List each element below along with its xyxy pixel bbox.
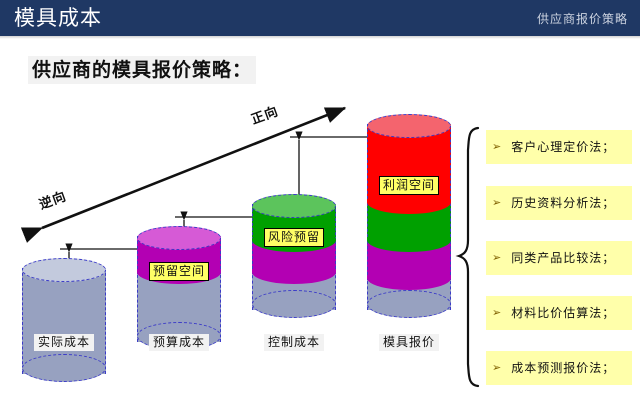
cylinder-bottom-ellipse [252,290,336,318]
cylinder-base-label: 预算成本 [149,334,209,351]
segment-label-risk-reserve: 风险预留 [264,228,324,247]
method-item-2[interactable]: ➢ 历史资料分析法； [486,186,632,220]
method-item-label: 客户心理定价法； [511,139,615,155]
segment-reserved-space-bottom-ellipse [252,260,336,284]
bullet-arrow-icon: ➢ [492,360,502,376]
slide-canvas: 模具成本 供应商报价策略 供应商的模具报价策略： [0,0,640,401]
bullet-arrow-icon: ➢ [492,305,502,321]
bullet-arrow-icon: ➢ [492,139,502,155]
bullet-arrow-icon: ➢ [492,250,502,266]
cylinder-bottom-ellipse [22,354,106,382]
cylinder-actual-cost[interactable]: 实际成本 [22,258,106,384]
bullet-arrow-icon: ➢ [492,195,502,211]
cylinder-control-cost[interactable]: 风险预留 控制成本 [252,194,336,384]
segment-label-reserved-space: 预留空间 [149,262,209,281]
cylinder-top-ellipse [367,114,451,138]
method-item-5[interactable]: ➢ 成本预测报价法； [486,351,632,385]
cylinder-mold-quotation[interactable]: 利润空间 模具报价 [367,114,451,384]
cylinder-base-label: 实际成本 [34,334,94,351]
method-item-label: 同类产品比较法； [511,250,615,266]
methods-brace [459,128,478,386]
cylinder-bottom-ellipse [367,290,451,318]
segment-label-profit-space: 利润空间 [379,176,439,195]
segment-risk-reserve-bottom-ellipse [367,228,451,252]
cylinder-base-label: 控制成本 [264,334,324,351]
method-item-4[interactable]: ➢ 材料比价估算法； [486,296,632,330]
cylinder-base-label: 模具报价 [379,334,439,351]
method-item-1[interactable]: ➢ 客户心理定价法； [486,130,632,164]
cylinder-budget-cost[interactable]: 预留空间 预算成本 [137,226,221,384]
cylinder-top-ellipse [22,258,106,282]
cylinder-top-ellipse [252,194,336,218]
method-item-label: 历史资料分析法； [511,195,615,211]
method-item-label: 材料比价估算法； [511,305,615,321]
method-item-3[interactable]: ➢ 同类产品比较法； [486,241,632,275]
segment-reserved-space-bottom-ellipse [367,266,451,290]
method-item-label: 成本预测报价法； [511,360,615,376]
cylinder-top-ellipse [137,226,221,250]
